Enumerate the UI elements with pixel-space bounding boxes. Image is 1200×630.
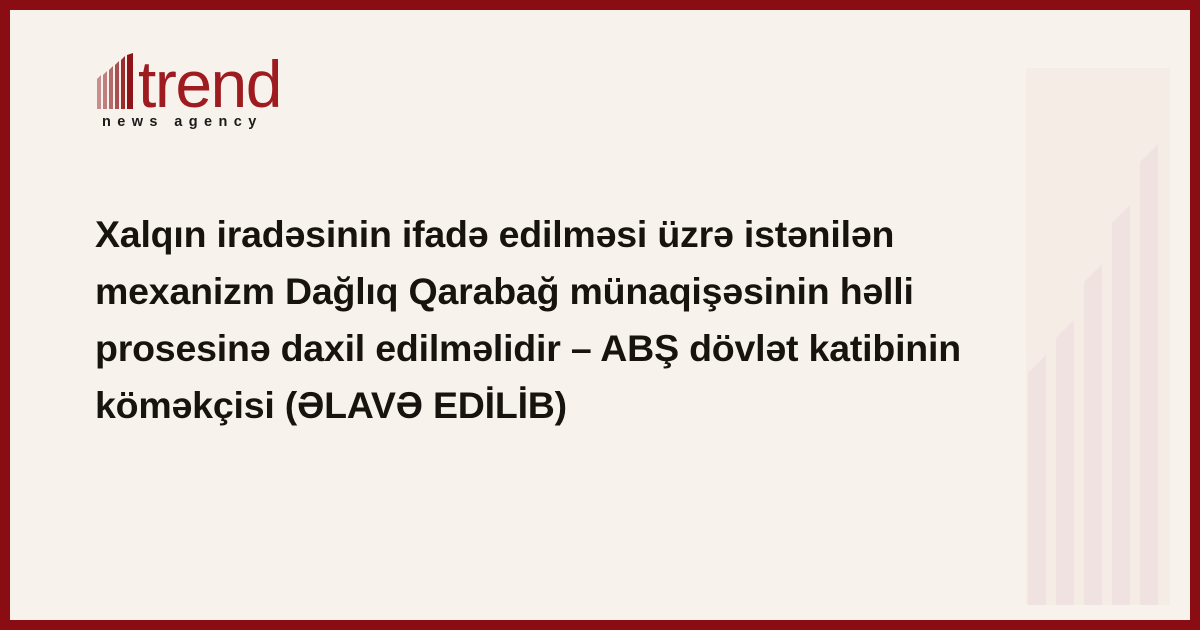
trend-logo[interactable]: trend news agency [95, 46, 395, 130]
ascending-bars-watermark [1018, 10, 1178, 620]
headline-line-1: Xalqın iradəsinin ifadə edilməsi üzrə is… [95, 206, 1000, 263]
trend-bars-logomark-icon [95, 53, 137, 109]
logo-row: trend [95, 46, 395, 108]
headline-line-4: köməkçisi (ƏLAVƏ EDİLİB) [95, 377, 1000, 434]
logo-wordmark: trend [138, 56, 281, 112]
headline-line-2: mexanizm Dağlıq Qarabağ münaqişəsinin hə… [95, 263, 1000, 320]
page-title: Xalqın iradəsinin ifadə edilməsi üzrə is… [95, 206, 1000, 434]
share-card: trend news agency Xalqın iradəsinin ifad… [0, 0, 1200, 630]
headline-line-3: prosesinə daxil edilməlidir – ABŞ dövlət… [95, 320, 1000, 377]
card-canvas: trend news agency Xalqın iradəsinin ifad… [10, 10, 1190, 620]
